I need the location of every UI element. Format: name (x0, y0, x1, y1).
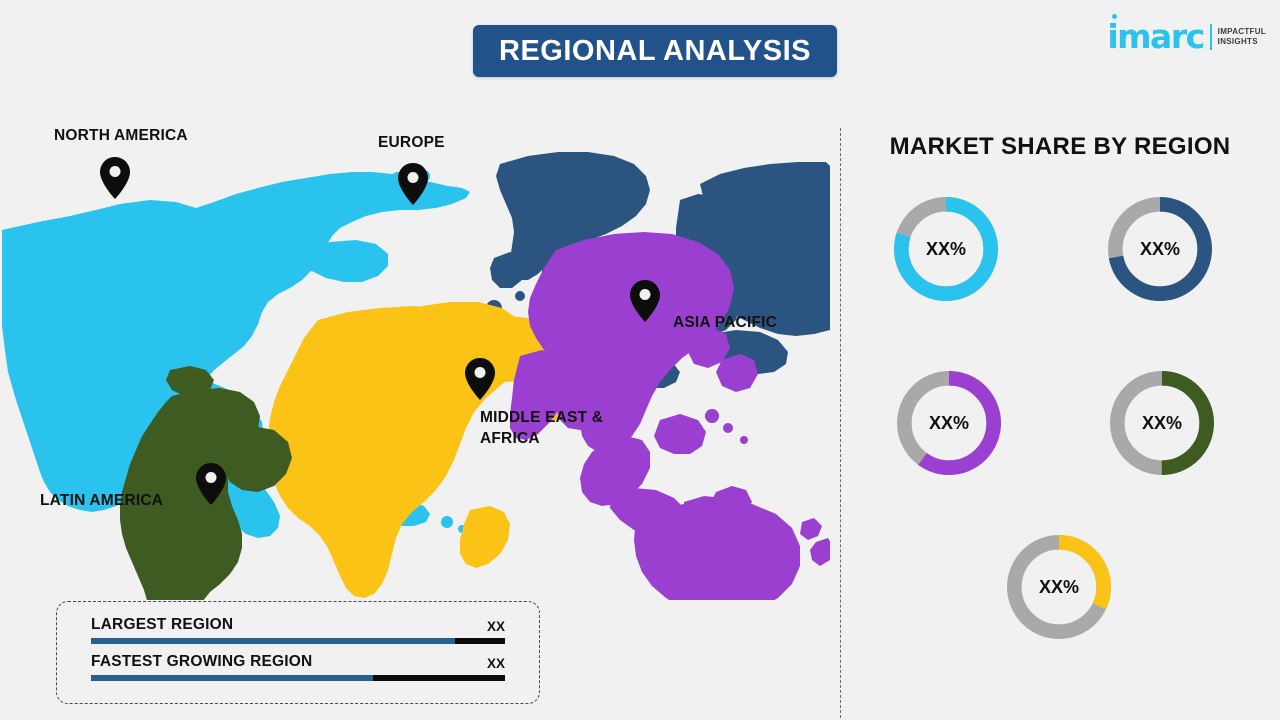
logo-divider (1210, 24, 1212, 50)
page-title-bar: REGIONAL ANALYSIS (473, 25, 837, 77)
map-region-middle-east-africa (268, 302, 582, 598)
map-pin-north-america-icon[interactable] (100, 157, 130, 199)
map-label-north-america: NORTH AMERICA (54, 126, 188, 147)
donut-value-latin-america: XX% (1103, 364, 1221, 482)
donut-europe: XX% (1101, 190, 1219, 308)
map-pin-latin-america-icon[interactable] (196, 463, 226, 505)
market-share-title: MARKET SHARE BY REGION (840, 133, 1280, 161)
map-pin-europe-icon[interactable] (398, 163, 428, 205)
legend-bar-largest-region (91, 638, 505, 644)
legend-bar-fill (91, 638, 455, 644)
legend-value-fastest-growing-region: XX (487, 656, 505, 671)
logo-tagline-line2: INSIGHTS (1218, 37, 1266, 46)
panel-divider (840, 128, 841, 718)
legend-label-fastest-growing-region: FASTEST GROWING REGION (91, 653, 312, 671)
legend-bar-fill (91, 675, 373, 681)
logo-tagline-line1: IMPACTFUL (1218, 27, 1266, 36)
legend-row-largest-region: LARGEST REGION XX (91, 616, 505, 644)
legend-bar-fastest-growing-region (91, 675, 505, 681)
logo-wordmark-text: imarc (1107, 17, 1203, 56)
region-ranking-box: LARGEST REGION XX FASTEST GROWING REGION… (56, 601, 540, 704)
imarc-logo: imarc IMPACTFUL INSIGHTS (1107, 20, 1266, 53)
map-label-middle-east-africa: MIDDLE EAST & AFRICA (480, 408, 603, 450)
donut-value-europe: XX% (1101, 190, 1219, 308)
map-label-latin-america: LATIN AMERICA (40, 491, 163, 512)
logo-wordmark: imarc (1107, 20, 1203, 53)
legend-row-header: LARGEST REGION XX (91, 616, 505, 634)
map-label-asia-pacific: ASIA PACIFIC (673, 313, 777, 334)
logo-tagline: IMPACTFUL INSIGHTS (1218, 27, 1266, 45)
map-label-europe: EUROPE (378, 133, 445, 154)
donut-value-north-america: XX% (887, 190, 1005, 308)
donut-value-asia-pacific: XX% (890, 364, 1008, 482)
map-pin-middle-east-africa-icon[interactable] (465, 358, 495, 400)
page-title: REGIONAL ANALYSIS (499, 35, 811, 68)
legend-row-header: FASTEST GROWING REGION XX (91, 653, 505, 671)
donut-north-america: XX% (887, 190, 1005, 308)
legend-row-fastest-growing-region: FASTEST GROWING REGION XX (91, 653, 505, 681)
infographic-canvas: REGIONAL ANALYSIS imarc IMPACTFUL INSIGH… (0, 0, 1280, 720)
donut-middle-east-africa: XX% (1000, 528, 1118, 646)
legend-label-largest-region: LARGEST REGION (91, 616, 233, 634)
donut-asia-pacific: XX% (890, 364, 1008, 482)
donut-value-middle-east-africa: XX% (1000, 528, 1118, 646)
map-pin-asia-pacific-icon[interactable] (630, 280, 660, 322)
legend-value-largest-region: XX (487, 619, 505, 634)
donut-latin-america: XX% (1103, 364, 1221, 482)
